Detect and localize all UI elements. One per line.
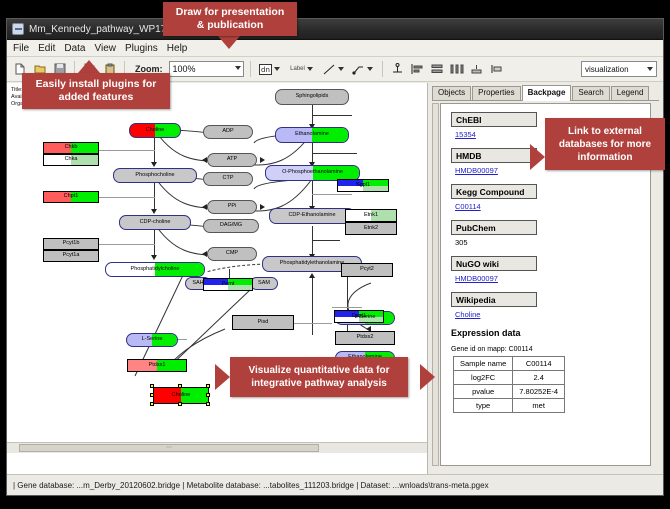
menu-item-edit[interactable]: Edit bbox=[38, 43, 55, 54]
selection-handle[interactable] bbox=[178, 384, 182, 388]
canvas-hscrollbar[interactable]: ⋯ bbox=[7, 442, 428, 453]
window-titlebar: Mm_Kennedy_pathway_WP1771_45176.gpml bbox=[7, 19, 663, 40]
menu-item-view[interactable]: View bbox=[94, 43, 116, 54]
chevron-down-icon bbox=[307, 67, 313, 71]
canvas-hscroll-thumb[interactable]: ⋯ bbox=[19, 444, 319, 452]
zoom-combo[interactable]: 100% bbox=[169, 61, 244, 77]
expression-data-title: Expression data bbox=[451, 328, 650, 338]
node-sgpl1[interactable]: Sgpl1 bbox=[337, 179, 389, 192]
menu-item-data[interactable]: Data bbox=[64, 43, 85, 54]
edge-cdpetn-ptdetn bbox=[312, 226, 313, 256]
screenshot-root: Mm_Kennedy_pathway_WP1771_45176.gpml Fil… bbox=[0, 0, 670, 509]
table-cell-val: C00114 bbox=[513, 357, 565, 371]
arrow-icon bbox=[260, 204, 265, 210]
app-icon bbox=[12, 23, 24, 35]
group-icon[interactable] bbox=[469, 61, 486, 78]
menubar: File Edit Data View Plugins Help bbox=[7, 40, 663, 57]
menu-item-file[interactable]: File bbox=[13, 43, 29, 54]
arrow-icon bbox=[202, 157, 207, 163]
edge-pisd-ptdetn bbox=[312, 275, 313, 335]
backpage-header-pubchem: PubChem bbox=[451, 220, 537, 235]
backpage-link-nugo[interactable]: HMDB00097 bbox=[455, 274, 650, 283]
arc-serine-ethanolamine bbox=[337, 279, 377, 339]
backpage-header-chebi: ChEBI bbox=[451, 112, 537, 127]
datanode-icon[interactable]: dn bbox=[257, 61, 283, 78]
table-cell-val: met bbox=[513, 399, 565, 413]
node-sphingolipids[interactable]: Sphingolipids bbox=[275, 89, 349, 105]
table-row: Sample name C00114 bbox=[454, 357, 565, 371]
node-ethanolamine-top[interactable]: Ethanolamine bbox=[275, 127, 349, 143]
side-panel-scrollbar[interactable] bbox=[432, 103, 439, 466]
table-row: type met bbox=[454, 399, 565, 413]
node-chpt1[interactable]: Chpt1 bbox=[43, 191, 99, 203]
side-panel-tabs: Objects Properties Backpage Search Legen… bbox=[432, 87, 659, 101]
table-row: log2FC 2.4 bbox=[454, 371, 565, 385]
selection-handle[interactable] bbox=[178, 402, 182, 406]
tab-objects[interactable]: Objects bbox=[432, 86, 471, 100]
table-cell-key: Sample name bbox=[454, 357, 513, 371]
node-etnk2[interactable]: Etnk2 bbox=[345, 222, 397, 235]
node-chkb[interactable]: Chkb bbox=[43, 142, 99, 154]
selection-handle[interactable] bbox=[206, 384, 210, 388]
tab-properties[interactable]: Properties bbox=[472, 86, 520, 100]
tab-search[interactable]: Search bbox=[572, 86, 609, 100]
chevron-down-icon bbox=[235, 66, 241, 70]
node-ptdss2[interactable]: Ptdss2 bbox=[335, 331, 395, 345]
chevron-down-icon bbox=[367, 67, 373, 71]
node-etnk1[interactable]: Etnk1 bbox=[345, 209, 397, 222]
node-sam[interactable]: SAM bbox=[250, 277, 278, 290]
edge-pcyt2 bbox=[312, 194, 352, 195]
align-icon[interactable] bbox=[409, 61, 426, 78]
node-phosphatidylcholine[interactable]: Phosphatidylcholine bbox=[105, 262, 205, 277]
table-cell-val: 7.80252E-4 bbox=[513, 385, 565, 399]
edge-sgpl1 bbox=[312, 115, 352, 116]
backpage-header-hmdb: HMDB bbox=[451, 148, 537, 163]
selection-handle[interactable] bbox=[150, 384, 154, 388]
node-ctp[interactable]: CTP bbox=[203, 172, 253, 186]
visualization-value: visualization bbox=[585, 65, 629, 74]
node-cdp-ethanolamine[interactable]: CDP-Ethanolamine bbox=[269, 208, 355, 224]
callout-tail bbox=[78, 60, 100, 73]
arrow-icon bbox=[202, 204, 207, 210]
backpage-value-pubchem: 305 bbox=[455, 238, 650, 247]
callout-tail-expression bbox=[420, 364, 435, 390]
node-dag-mg[interactable]: DAG/MG bbox=[203, 219, 259, 233]
tab-backpage[interactable]: Backpage bbox=[522, 85, 572, 101]
backpage-link-wikipedia[interactable]: Choline bbox=[455, 310, 650, 319]
node-pemt[interactable]: Pemt bbox=[203, 278, 253, 291]
table-row: pvalue 7.80252E-4 bbox=[454, 385, 565, 399]
zoom-value: 100% bbox=[173, 64, 196, 74]
node-pcyt1b[interactable]: Pcyt1b bbox=[43, 238, 99, 250]
node-chka[interactable]: Chka bbox=[43, 154, 99, 166]
selection-handle[interactable] bbox=[206, 393, 210, 397]
node-cdp-choline[interactable]: CDP-choline bbox=[119, 215, 191, 230]
selection-handle[interactable] bbox=[150, 402, 154, 406]
stack-icon[interactable] bbox=[429, 61, 446, 78]
visualization-combo[interactable]: visualization bbox=[581, 61, 657, 77]
arrow-icon bbox=[202, 251, 207, 257]
chevron-down-icon bbox=[647, 67, 653, 71]
interaction-icon[interactable] bbox=[350, 61, 376, 78]
edge-ptdss2 bbox=[332, 307, 362, 308]
backpage-header-kegg: Kegg Compound bbox=[451, 184, 537, 199]
pathway-canvas[interactable]: Title: Availa Organi bbox=[7, 83, 428, 474]
edge-pisd bbox=[292, 323, 332, 324]
edge-etnk bbox=[312, 153, 357, 154]
line-icon[interactable] bbox=[321, 61, 347, 78]
node-l-serine-left[interactable]: L-Serine bbox=[126, 333, 178, 347]
distribute-icon[interactable] bbox=[449, 61, 466, 78]
selection-handle[interactable] bbox=[206, 402, 210, 406]
chevron-down-icon bbox=[274, 67, 280, 71]
callout-tail bbox=[218, 36, 240, 49]
label-icon[interactable]: Label bbox=[286, 61, 318, 78]
node-pcyt2[interactable]: Pcyt2 bbox=[341, 263, 393, 277]
toolbar-separator bbox=[382, 61, 383, 77]
table-cell-key: log2FC bbox=[454, 371, 513, 385]
table-cell-key: pvalue bbox=[454, 385, 513, 399]
edge-pcyt1 bbox=[99, 244, 155, 245]
node-ptdss1[interactable]: Ptdss1 bbox=[127, 359, 187, 372]
callout-tail bbox=[530, 144, 545, 170]
node-choline-top[interactable]: Choline bbox=[129, 123, 181, 138]
svg-text:dn: dn bbox=[261, 66, 270, 74]
expression-table: Sample name C00114 log2FC 2.4 pvalue 7.8… bbox=[453, 356, 565, 413]
edge-chk-choline bbox=[99, 150, 155, 151]
callout-tail bbox=[215, 364, 230, 390]
node-cept1[interactable]: Cept1 bbox=[334, 310, 384, 323]
callout-visualize: Visualize quantitative data for integrat… bbox=[230, 357, 408, 397]
menu-item-help[interactable]: Help bbox=[167, 43, 188, 54]
node-pcyt1a[interactable]: Pcyt1a bbox=[43, 250, 99, 262]
statusbar: | Gene database: ...m_Derby_20120602.bri… bbox=[7, 474, 663, 495]
selection-handle[interactable] bbox=[150, 393, 154, 397]
table-cell-val: 2.4 bbox=[513, 371, 565, 385]
edge-chpt1 bbox=[99, 197, 155, 198]
node-pisd[interactable]: Pisd bbox=[232, 315, 294, 330]
callout-links: Link to external databases for more info… bbox=[545, 118, 665, 170]
edge-cept1 bbox=[312, 240, 340, 241]
arrow-icon bbox=[260, 157, 265, 163]
node-atp[interactable]: ATP bbox=[207, 153, 257, 167]
backpage-header-wikipedia: Wikipedia bbox=[451, 292, 537, 307]
tab-legend[interactable]: Legend bbox=[611, 86, 650, 100]
node-cmp[interactable]: CMP bbox=[207, 247, 257, 261]
node-phosphocholine[interactable]: Phosphocholine bbox=[113, 168, 197, 183]
gene-id-label: Gene id on mapp: C00114 bbox=[451, 346, 650, 353]
table-cell-key: type bbox=[454, 399, 513, 413]
backpage-header-nugo: NuGO wiki bbox=[451, 256, 537, 271]
chevron-down-icon bbox=[338, 67, 344, 71]
order-icon[interactable] bbox=[489, 61, 506, 78]
statusbar-text: | Gene database: ...m_Derby_20120602.bri… bbox=[13, 481, 489, 490]
toolbar-separator bbox=[250, 61, 251, 77]
node-adp[interactable]: ADP bbox=[203, 125, 253, 139]
menu-item-plugins[interactable]: Plugins bbox=[125, 43, 158, 54]
node-ppi[interactable]: PPi bbox=[207, 200, 257, 214]
backpage-link-kegg[interactable]: C00114 bbox=[455, 202, 650, 211]
callout-plugins: Easily install plugins for added feature… bbox=[22, 73, 170, 109]
anchor-icon[interactable] bbox=[389, 61, 406, 78]
callout-draw: Draw for presentation & publication bbox=[163, 2, 297, 36]
